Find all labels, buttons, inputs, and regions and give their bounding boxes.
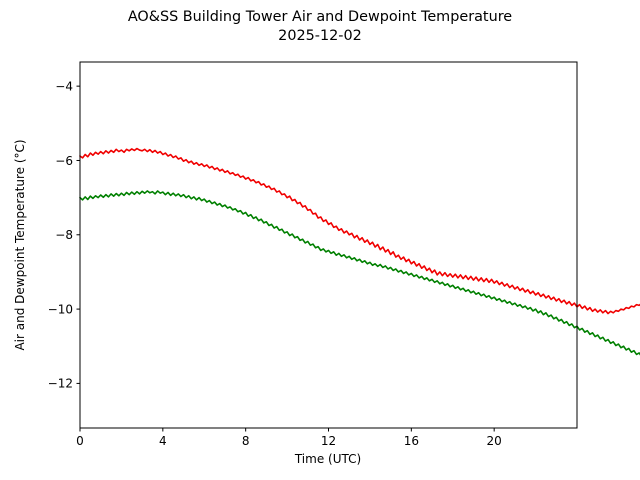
chart-subtitle: 2025-12-02	[278, 28, 362, 44]
x-tick-label: 8	[242, 434, 250, 448]
chart-title: AO&SS Building Tower Air and Dewpoint Te…	[128, 9, 512, 25]
chart-canvas: AO&SS Building Tower Air and Dewpoint Te…	[0, 0, 640, 480]
x-tick-label: 20	[487, 434, 502, 448]
y-tick-label: −6	[55, 154, 73, 168]
x-tick-label: 4	[159, 434, 167, 448]
y-tick-label: −4	[55, 79, 73, 93]
y-axis-label: Air and Dewpoint Temperature (°C)	[13, 139, 27, 350]
y-tick-label: −8	[55, 228, 73, 242]
x-axis-label: Time (UTC)	[294, 452, 361, 466]
chart-figure: AO&SS Building Tower Air and Dewpoint Te…	[0, 0, 640, 480]
x-tick-label: 16	[404, 434, 419, 448]
x-tick-label: 12	[321, 434, 336, 448]
y-tick-label: −12	[48, 377, 73, 391]
plot-area-background	[80, 62, 577, 428]
x-tick-label: 0	[76, 434, 84, 448]
y-tick-label: −10	[48, 302, 73, 316]
